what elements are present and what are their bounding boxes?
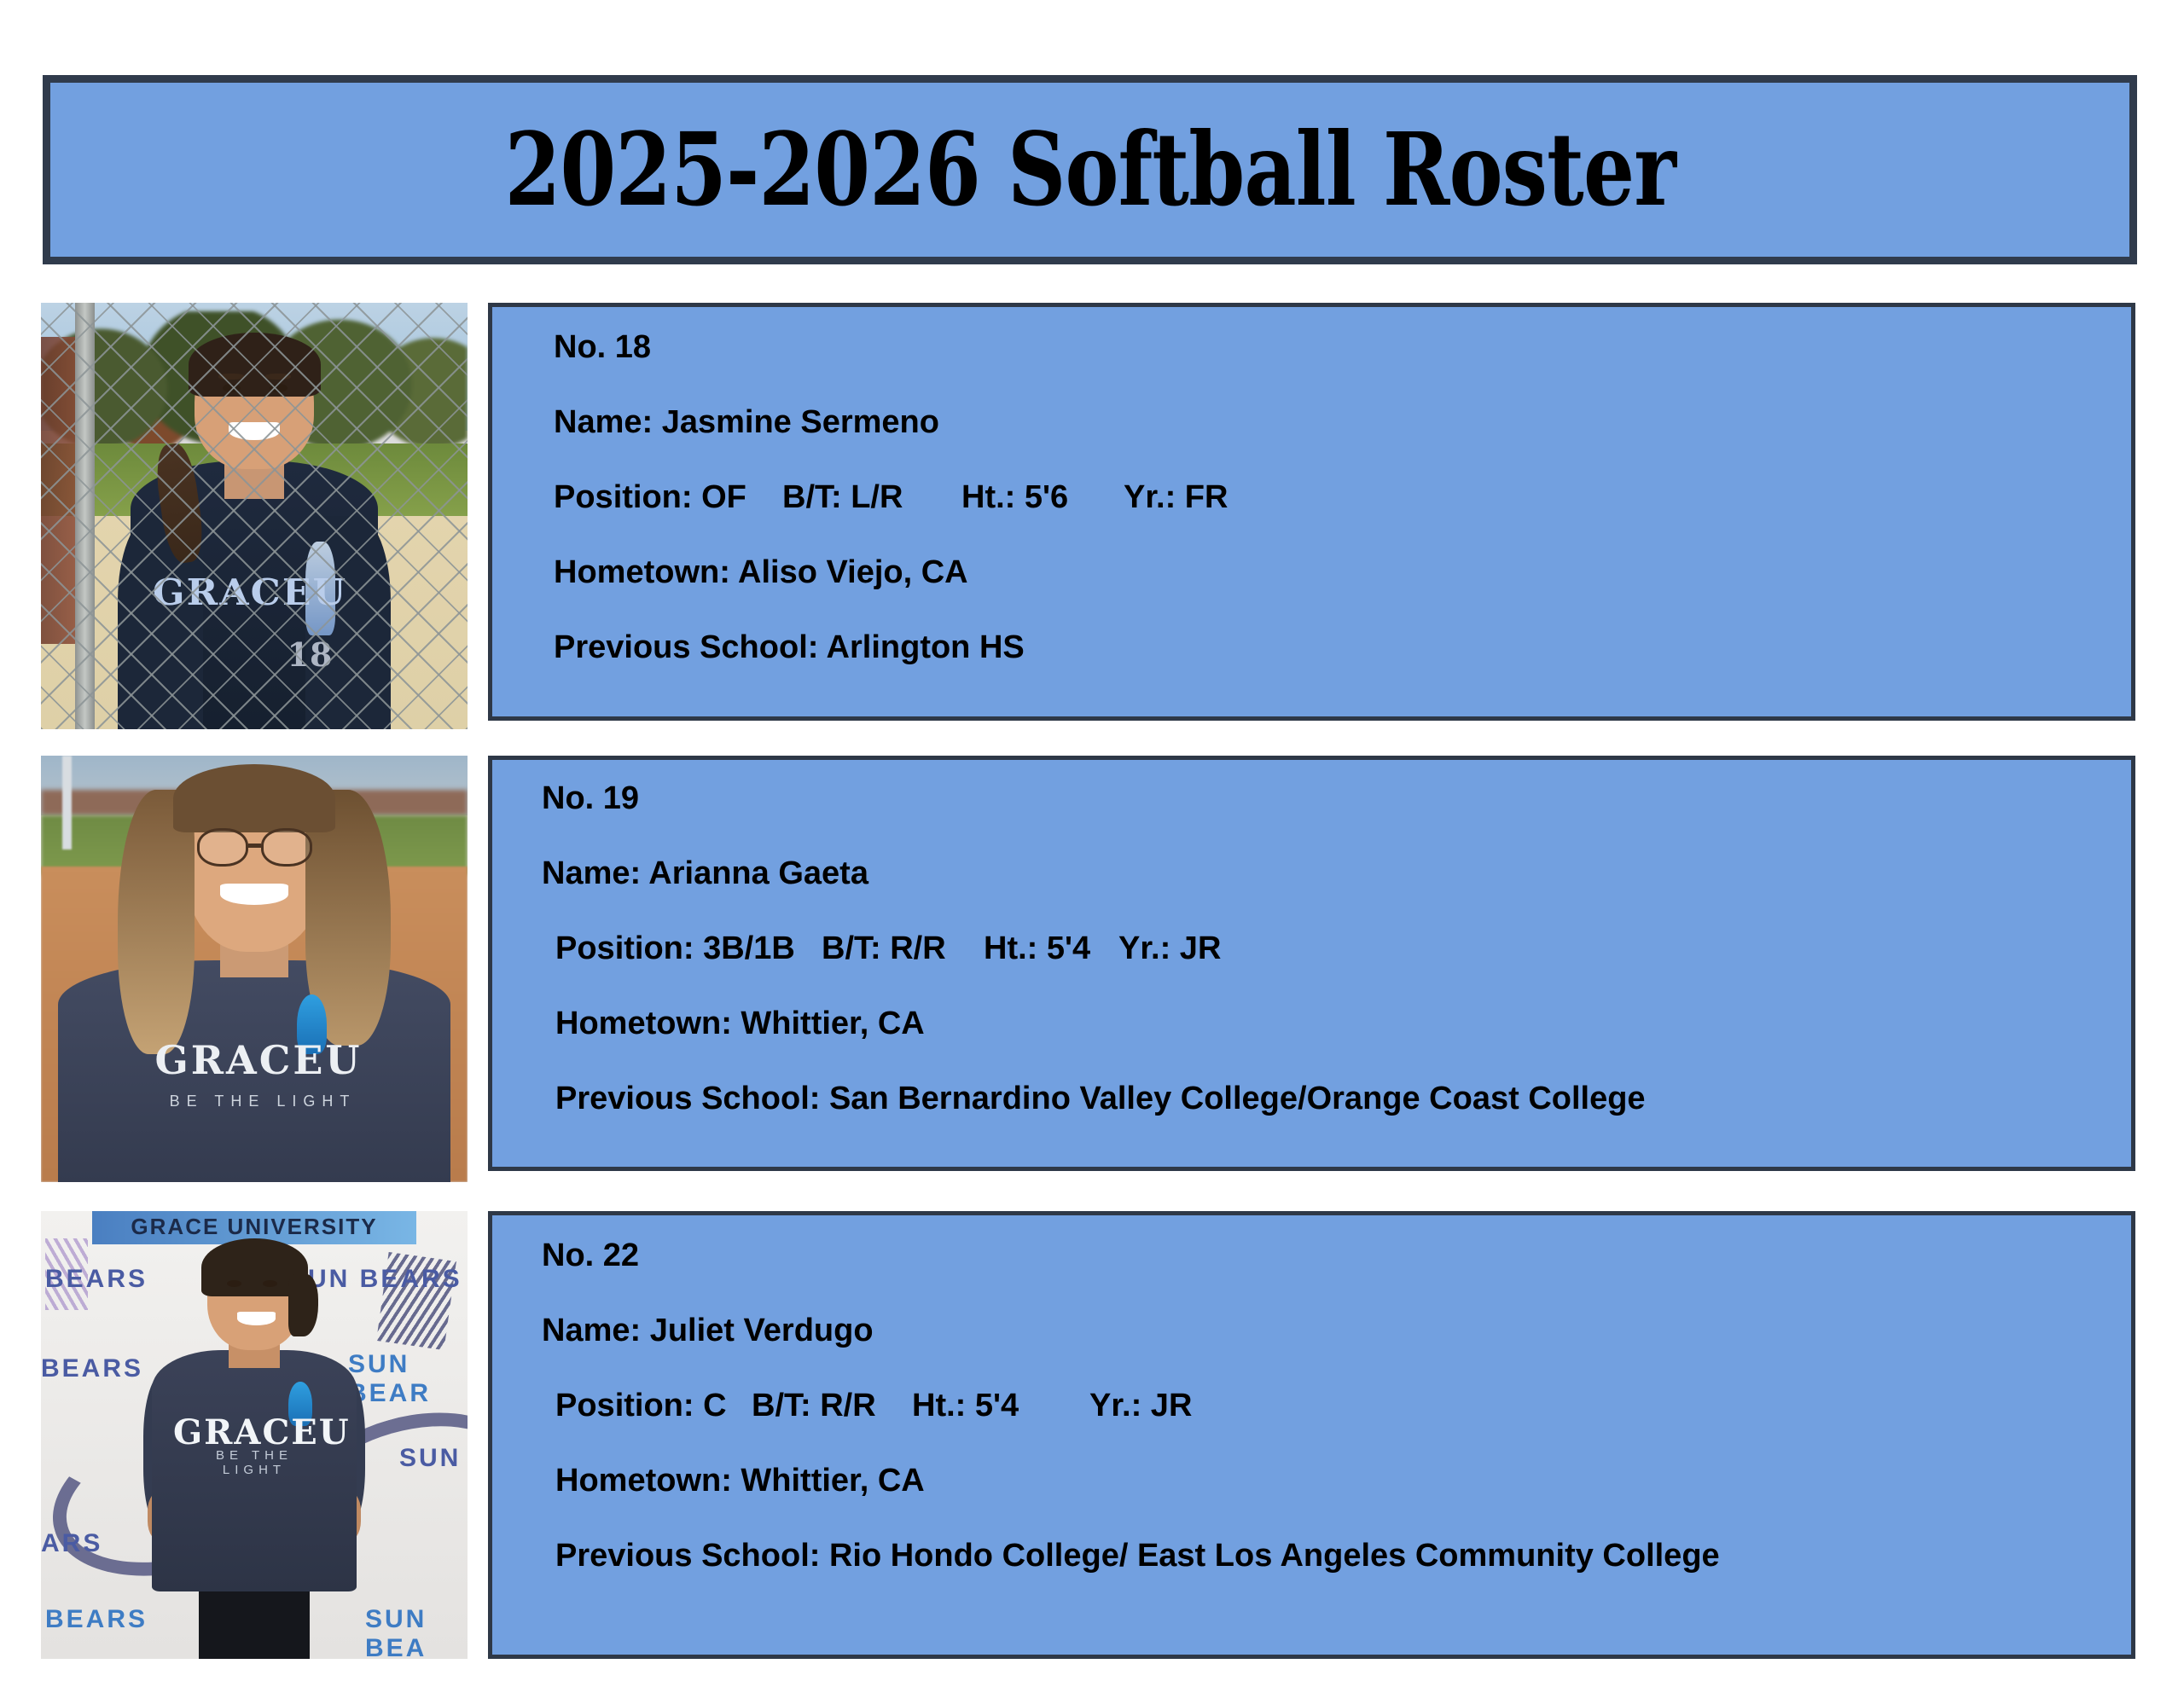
player-photo-2: GRACEU BE THE LIGHT bbox=[41, 756, 468, 1182]
player-3-hometown: Hometown: Whittier, CA bbox=[542, 1464, 2131, 1497]
player-1-previous-school: Previous School: Arlington HS bbox=[554, 631, 2131, 664]
photo3-shirt-wordmark: GRACEU bbox=[173, 1412, 335, 1444]
player-2-number: No. 19 bbox=[542, 782, 2131, 815]
player-photo-3: GRACE UNIVERSITY BEARS SUN BEARS BEARS S… bbox=[41, 1211, 468, 1659]
photo3-backdrop-word-1: BEARS bbox=[45, 1265, 148, 1294]
roster-page: 2025-2026 Softball Roster GRACEU 18 bbox=[0, 0, 2184, 1687]
photo2-shirt-wordmark: GRACEU bbox=[135, 1037, 382, 1075]
player-1-number: No. 18 bbox=[554, 331, 2131, 363]
photo3-shirt-tagline: BE THE LIGHT bbox=[182, 1448, 327, 1466]
player-1-stats-row: Position: OF B/T: L/R Ht.: 5'6 Yr.: FR bbox=[554, 481, 2131, 513]
photo2-glasses-left-lens bbox=[197, 828, 248, 867]
player-3-height: Ht.: 5'4 bbox=[912, 1389, 1089, 1422]
player-2-bats-throws: B/T: R/R bbox=[822, 932, 984, 965]
player-1-height: Ht.: 5'6 bbox=[961, 481, 1124, 513]
roster-title-banner: 2025-2026 Softball Roster bbox=[43, 75, 2137, 264]
player-card-1: No. 18 Name: Jasmine Sermeno Position: O… bbox=[488, 303, 2135, 721]
player-card-2: No. 19 Name: Arianna Gaeta Position: 3B/… bbox=[488, 756, 2135, 1171]
player-2-stats-row: Position: 3B/1B B/T: R/R Ht.: 5'4 Yr.: J… bbox=[542, 932, 2131, 965]
photo3-hair-side bbox=[288, 1274, 318, 1337]
photo3-backdrop-word-5: ARS bbox=[41, 1529, 102, 1558]
player-2-position: Position: 3B/1B bbox=[555, 932, 822, 965]
player-photo-1: GRACEU 18 bbox=[41, 303, 468, 729]
player-3-number: No. 22 bbox=[542, 1239, 2131, 1272]
photo2-glasses-right-lens bbox=[261, 828, 312, 867]
player-3-position: Position: C bbox=[555, 1389, 752, 1422]
photo2-glasses-bridge bbox=[248, 843, 261, 848]
photo1-chainlink-fence bbox=[41, 303, 468, 729]
photo2-hair-top bbox=[173, 764, 335, 832]
photo3-backdrop-word-8: SUN BEA bbox=[365, 1605, 468, 1659]
photo3-smile bbox=[237, 1312, 276, 1325]
player-3-previous-school: Previous School: Rio Hondo College/ East… bbox=[542, 1539, 2131, 1572]
page-title: 2025-2026 Softball Roster bbox=[504, 119, 1676, 220]
player-3-bats-throws: B/T: R/R bbox=[752, 1389, 912, 1422]
player-2-height: Ht.: 5'4 bbox=[984, 932, 1118, 965]
photo3-backdrop-word-3: BEARS bbox=[41, 1354, 143, 1383]
player-2-year: Yr.: JR bbox=[1118, 932, 1221, 965]
player-3-year: Yr.: JR bbox=[1089, 1389, 1192, 1422]
player-2-previous-school: Previous School: San Bernardino Valley C… bbox=[542, 1082, 2131, 1115]
player-1-bats-throws: B/T: L/R bbox=[782, 481, 961, 513]
player-1-position: Position: OF bbox=[554, 481, 782, 513]
player-card-3: No. 22 Name: Juliet Verdugo Position: C … bbox=[488, 1211, 2135, 1659]
photo2-pole bbox=[62, 756, 72, 849]
player-1-name: Name: Jasmine Sermeno bbox=[554, 406, 2131, 438]
player-1-year: Yr.: FR bbox=[1124, 481, 1228, 513]
photo3-backdrop-word-7: BEARS bbox=[45, 1605, 148, 1634]
player-2-hometown: Hometown: Whittier, CA bbox=[542, 1007, 2131, 1040]
photo3-backdrop-word-6: SUN bbox=[399, 1444, 461, 1473]
player-3-stats-row: Position: C B/T: R/R Ht.: 5'4 Yr.: JR bbox=[542, 1389, 2131, 1422]
photo3-eye-left bbox=[227, 1280, 241, 1287]
player-3-name: Name: Juliet Verdugo bbox=[542, 1314, 2131, 1347]
player-1-hometown: Hometown: Aliso Viejo, CA bbox=[554, 556, 2131, 588]
photo3-backdrop-word-4: SUN BEAR bbox=[348, 1350, 468, 1408]
photo2-smile bbox=[220, 884, 288, 905]
player-2-name: Name: Arianna Gaeta bbox=[542, 857, 2131, 890]
photo2-shirt-tagline: BE THE LIGHT bbox=[152, 1093, 374, 1114]
